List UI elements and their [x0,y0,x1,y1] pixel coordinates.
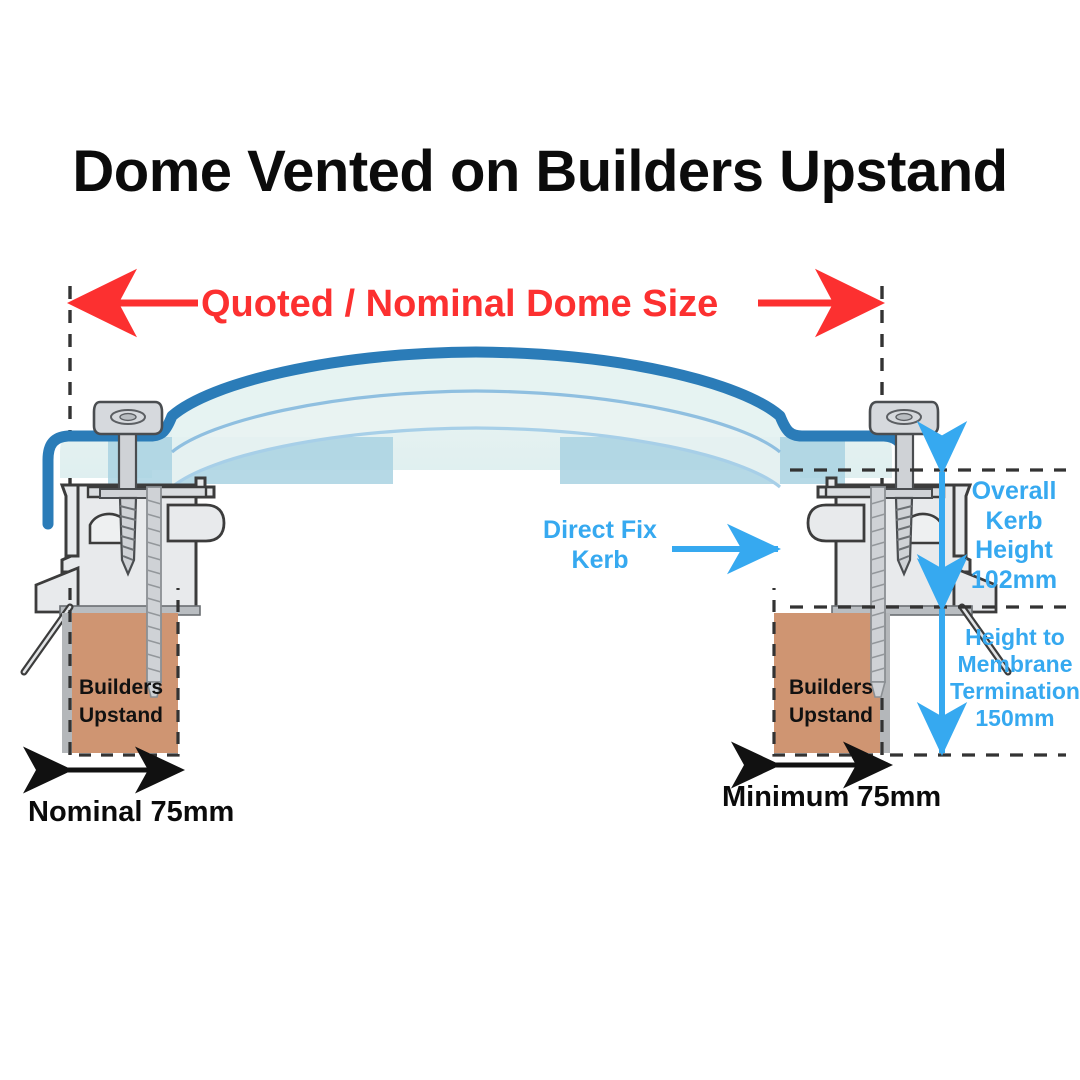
builders-upstand-right-line2: Upstand [772,702,890,730]
membrane-height-line3: Termination [950,678,1080,705]
direct-fix-kerb-label-line2: Kerb [500,546,700,576]
overall-kerb-height-value: 102mm [956,566,1072,596]
nominal-width-label: Nominal 75mm [28,795,234,829]
top-dimension-label: Quoted / Nominal Dome Size [201,282,718,327]
overall-kerb-height-label: Overall Kerb Height 102mm [956,477,1072,595]
membrane-termination-height-label: Height to Membrane Termination 150mm [950,624,1080,733]
membrane-height-line1: Height to [950,624,1080,651]
membrane-height-value: 150mm [950,705,1080,732]
builders-upstand-left-line1: Builders [62,674,180,702]
minimum-width-label: Minimum 75mm [722,780,941,814]
overall-kerb-height-line1: Overall [956,477,1072,507]
kerb-screw-right [871,487,885,697]
builders-upstand-label-right: Builders Upstand [772,674,890,731]
diagram-canvas: Dome Vented on Builders Upstand [0,0,1080,1080]
overall-kerb-height-line2: Kerb [956,507,1072,537]
overall-kerb-height-line3: Height [956,536,1072,566]
direct-fix-kerb-label-line1: Direct Fix [500,516,700,546]
builders-upstand-label-left: Builders Upstand [62,674,180,731]
membrane-height-line2: Membrane [950,651,1080,678]
direct-fix-kerb-label: Direct Fix Kerb [500,516,700,575]
builders-upstand-right-line1: Builders [772,674,890,702]
builders-upstand-left-line2: Upstand [62,702,180,730]
kerb-screw-left [147,487,161,697]
